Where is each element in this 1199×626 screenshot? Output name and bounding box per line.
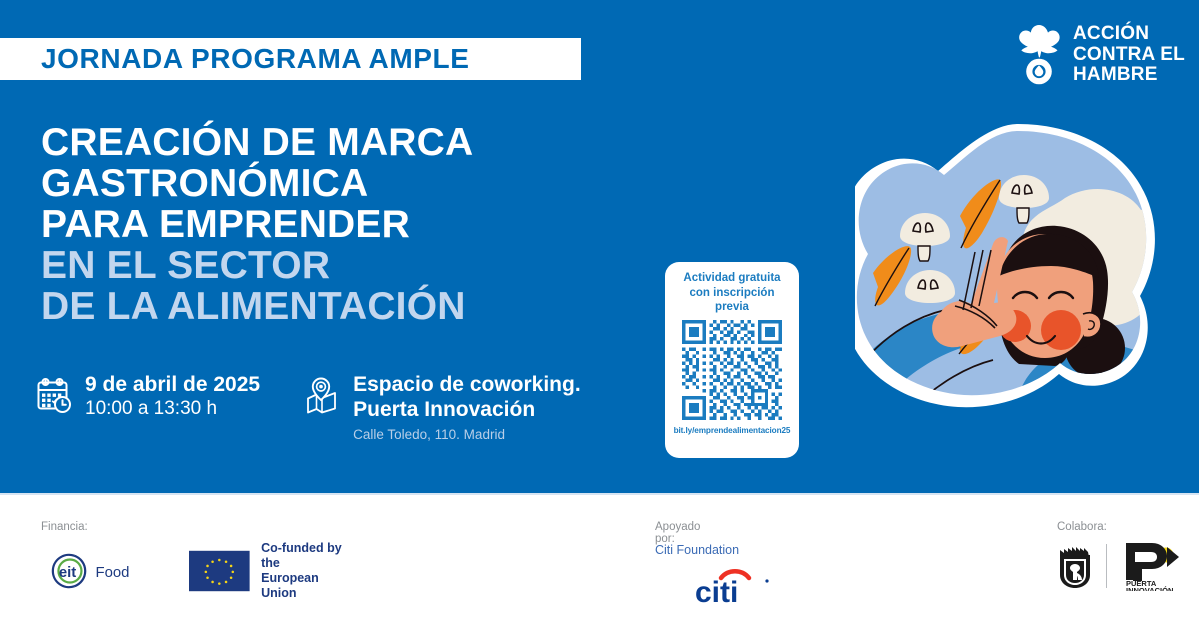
qr-caption-line-2: con inscripción [690, 287, 775, 299]
calendar-clock-icon [36, 376, 72, 414]
qr-caption: Actividad gratuita con inscripción previ… [673, 271, 791, 315]
event-poster: JORNADA PROGRAMA AMPLE CREACIÓN DE MARCA… [0, 0, 1199, 626]
eit-food-logo: eit Food [41, 547, 141, 595]
brand-line-2: CONTRA EL [1073, 45, 1185, 66]
title-line-5: DE LA ALIMENTACIÓN [41, 286, 601, 327]
map-pin-icon [304, 376, 340, 414]
qr-code-icon[interactable] [682, 320, 782, 420]
financia-logos: eit Food [41, 541, 348, 601]
svg-text:Food: Food [96, 565, 130, 581]
title-line-2: GASTRONÓMICA [41, 163, 601, 204]
registration-qr-card[interactable]: Actividad gratuita con inscripción previ… [665, 262, 799, 458]
organization-name: ACCIÓN CONTRA EL HAMBRE [1073, 24, 1185, 86]
qr-caption-line-3: previa [715, 301, 749, 313]
citi-support-block: Citi Foundation citi [655, 543, 835, 612]
event-date-text: 9 de abril de 2025 10:00 a 13:30 h [85, 372, 260, 421]
eu-text-line-2: European Union [261, 571, 348, 601]
colabora-logos: PUERTA INNOVACIÓN [1057, 541, 1192, 591]
citi-foundation-label: Citi Foundation [655, 543, 835, 557]
title-line-1: CREACIÓN DE MARCA [41, 122, 601, 163]
puerta-label-line-2: INNOVACIÓN [1126, 586, 1173, 591]
event-place-address: Calle Toledo, 110. Madrid [353, 425, 581, 444]
svg-text:eit: eit [59, 565, 76, 581]
organization-logo: ACCIÓN CONTRA EL HAMBRE [1014, 24, 1185, 86]
brand-line-1: ACCIÓN [1073, 24, 1185, 45]
eu-text-line-1: Co-funded by the [261, 541, 348, 571]
title-line-4: EN EL SECTOR [41, 245, 601, 286]
eu-funding-text: Co-funded by the European Union [261, 541, 348, 601]
event-place-line-2: Puerta Innovación [353, 397, 581, 422]
puerta-innovacion-logo: PUERTA INNOVACIÓN [1120, 541, 1192, 591]
citi-logo: citi [695, 567, 781, 607]
event-meta-row: 9 de abril de 2025 10:00 a 13:30 h Espac… [36, 372, 581, 444]
leaf-and-ring-icon [1014, 24, 1064, 86]
kicker-label: JORNADA PROGRAMA AMPLE [41, 43, 470, 75]
event-place-line-1: Espacio de coworking. [353, 372, 581, 397]
event-place-text: Espacio de coworking. Puerta Innovación … [353, 372, 581, 444]
logo-divider [1106, 544, 1107, 588]
european-union-logo: Co-funded by the European Union [189, 541, 347, 601]
sponsors-footer: Financia: eit Food [0, 493, 1199, 626]
apoyado-label: Apoyado por: [655, 521, 700, 545]
page-title: CREACIÓN DE MARCA GASTRONÓMICA PARA EMPR… [41, 122, 601, 327]
event-place-item: Espacio de coworking. Puerta Innovación … [304, 372, 581, 444]
qr-short-url[interactable]: bit.ly/emprendealimentacion25 [674, 426, 791, 435]
madrid-city-crest [1057, 543, 1093, 589]
chef-woman-tasting-illustration [855, 118, 1185, 486]
financia-label: Financia: [41, 521, 88, 533]
event-date-primary: 9 de abril de 2025 [85, 372, 260, 397]
event-date-secondary: 10:00 a 13:30 h [85, 397, 260, 421]
title-line-3: PARA EMPRENDER [41, 204, 601, 245]
kicker-badge: JORNADA PROGRAMA AMPLE [0, 38, 581, 80]
colabora-label: Colabora: [1057, 521, 1107, 533]
svg-text:citi: citi [695, 576, 738, 607]
event-date-item: 9 de abril de 2025 10:00 a 13:30 h [36, 372, 260, 444]
brand-line-3: HAMBRE [1073, 65, 1185, 86]
qr-caption-line-1: Actividad gratuita [683, 272, 780, 284]
eu-flag-icon [189, 547, 250, 595]
